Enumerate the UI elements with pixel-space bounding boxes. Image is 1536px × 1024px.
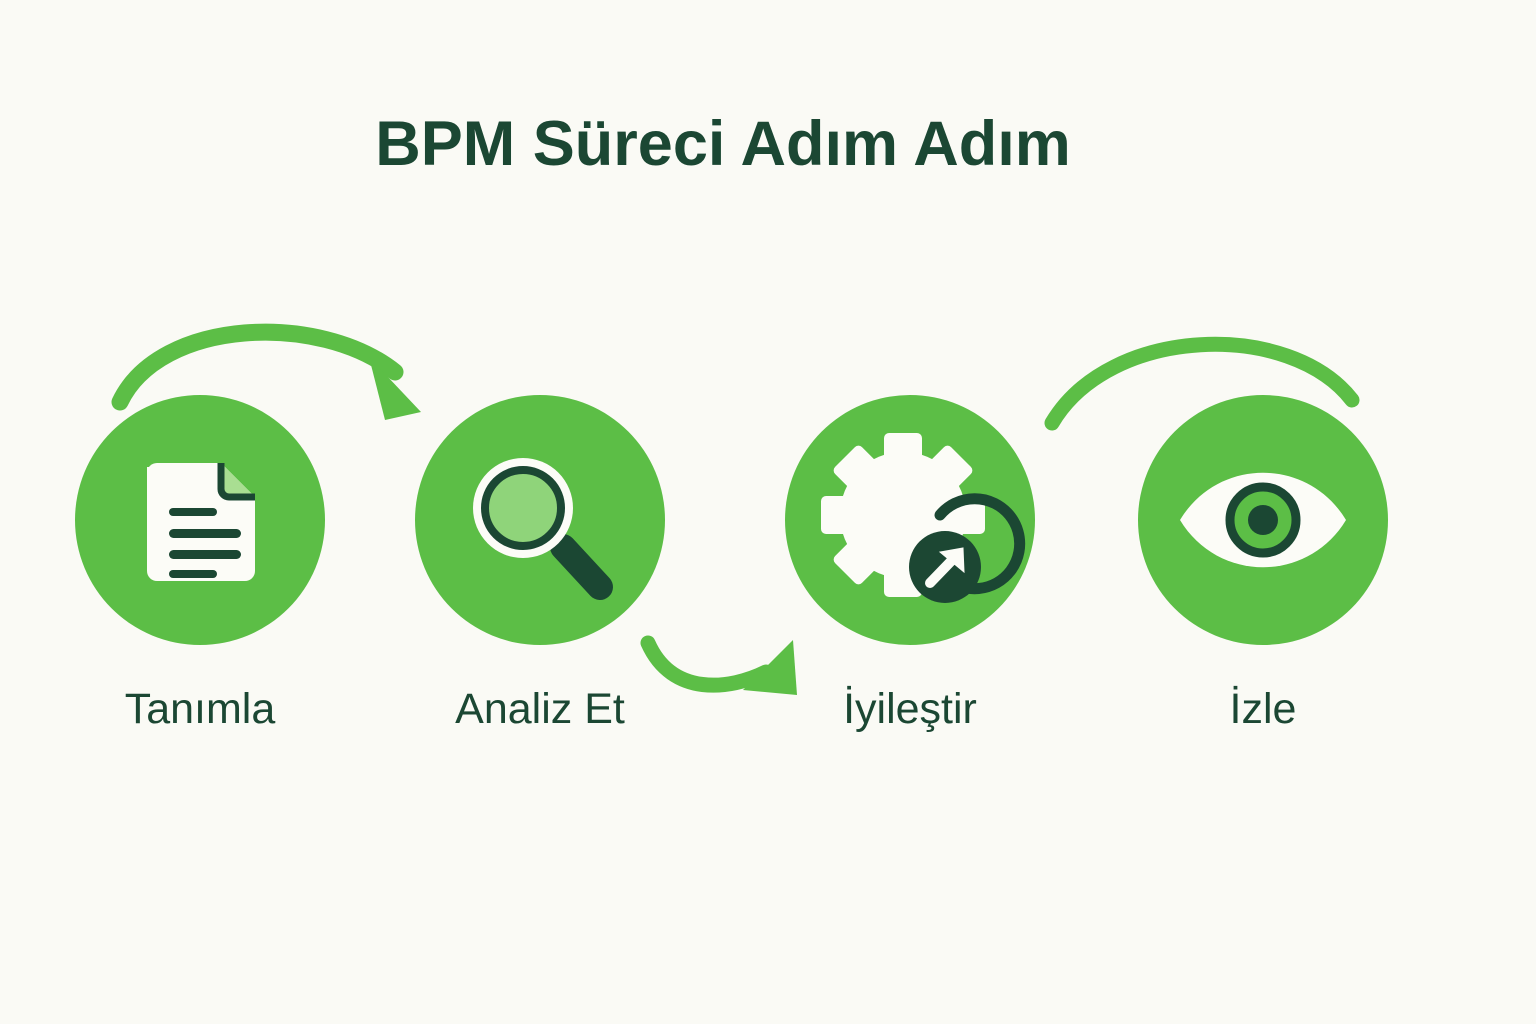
step-izle[interactable]: İzle [1138,395,1388,645]
step-iyilestir[interactable]: İyileştir [785,395,1035,645]
document-icon [75,395,325,645]
step-label-izle: İzle [1043,685,1483,734]
step-tanimla[interactable]: Tanımla [75,395,325,645]
page-title: BPM Süreci Adım Adım [0,113,1446,176]
step-analiz-et[interactable]: Analiz Et [415,395,665,645]
magnifier-icon [415,395,665,645]
gear-improve-icon [785,395,1035,645]
infographic-canvas: BPM Süreci Adım Adım [0,0,1536,1024]
eye-icon [1138,395,1388,645]
